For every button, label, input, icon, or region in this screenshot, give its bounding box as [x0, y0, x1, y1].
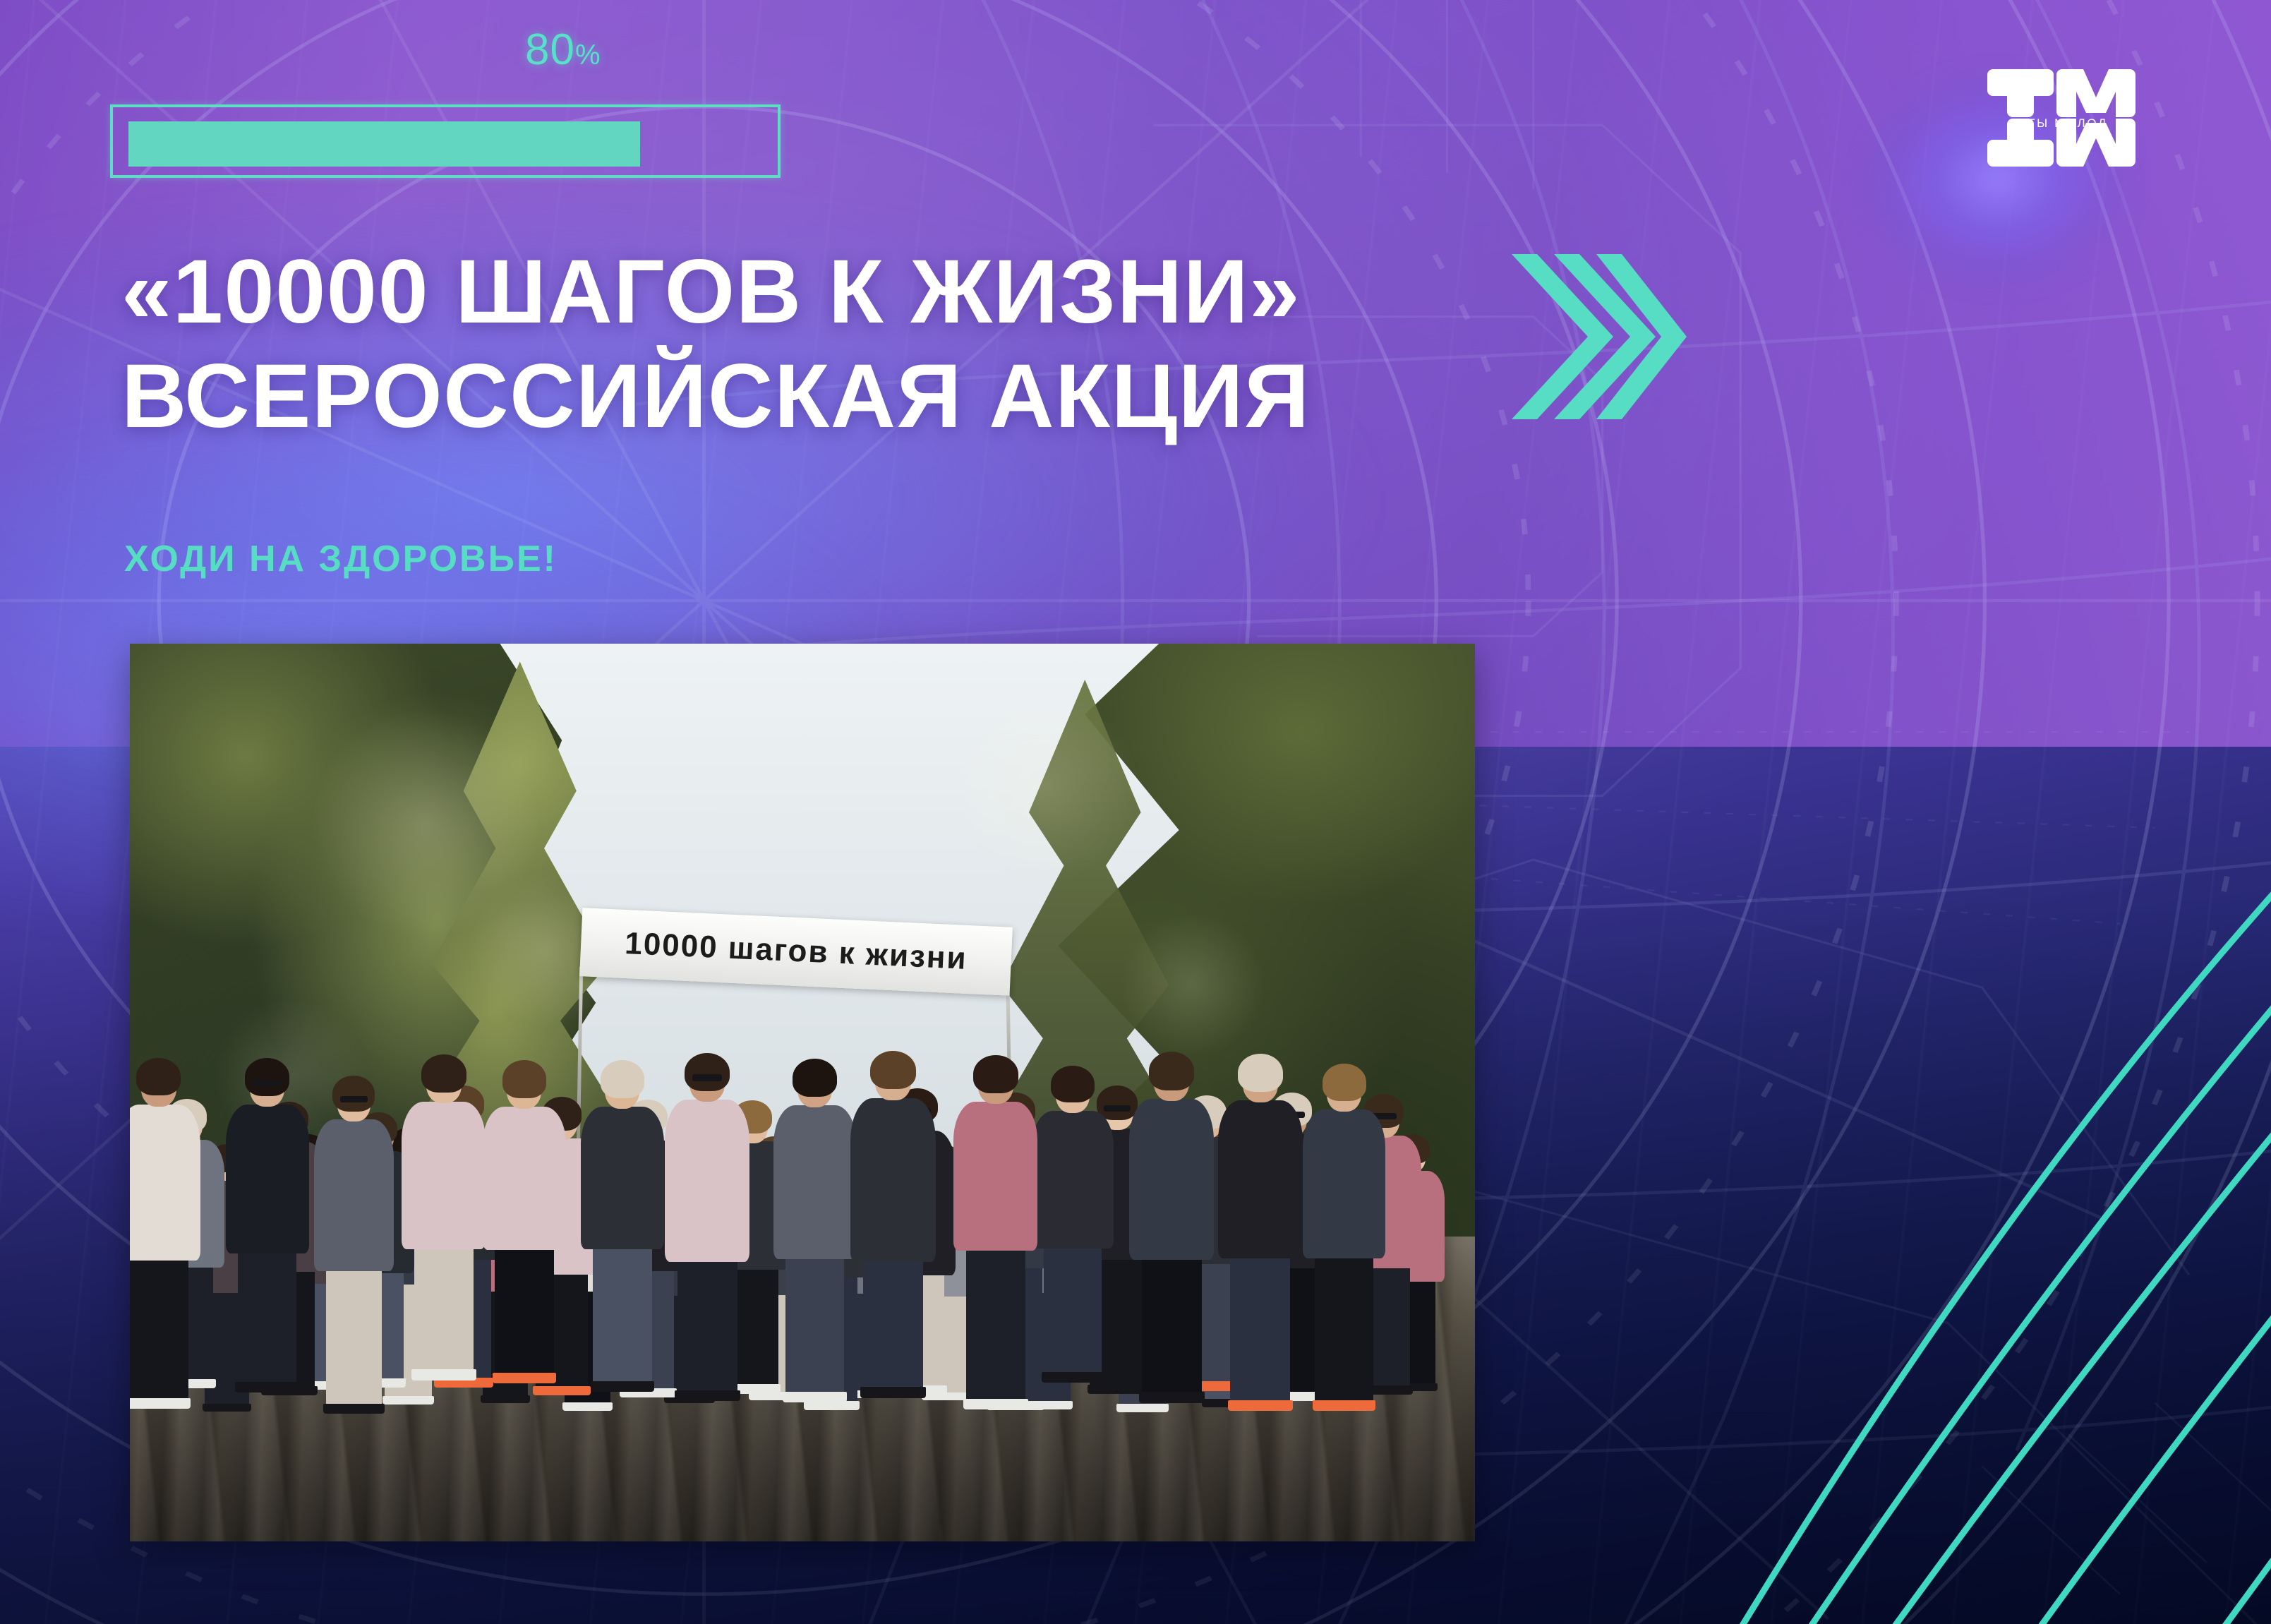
photo-person-hair	[1051, 1066, 1095, 1102]
photo-person	[250, 1066, 284, 1416]
photo-person-sunglasses	[1104, 1105, 1131, 1112]
photo-person-head	[507, 1068, 541, 1109]
photo-person-torso	[665, 1100, 749, 1262]
photo-person-shoes	[783, 1392, 847, 1402]
photo-person-torso	[1218, 1100, 1303, 1258]
photo-person	[605, 1068, 639, 1416]
photo-person	[875, 1058, 910, 1416]
photo-person-torso	[314, 1119, 393, 1271]
photo-person-head	[689, 1060, 725, 1102]
chevron-right-icon	[1507, 248, 1691, 425]
photo-person-legs	[238, 1253, 297, 1382]
photo-person	[426, 1062, 462, 1416]
photo-person-shoes	[323, 1404, 385, 1414]
progress-percent-value: 80	[525, 25, 575, 74]
photo-person-hair	[502, 1060, 547, 1097]
photo-person	[337, 1083, 371, 1416]
photo-person-hair	[601, 1060, 645, 1097]
progress-percent-unit: %	[575, 40, 601, 71]
photo-person-hair	[973, 1055, 1018, 1093]
photo-person-sunglasses	[253, 1080, 282, 1086]
photo-person-shoes	[1313, 1400, 1376, 1411]
photo-person-shoes	[860, 1387, 926, 1397]
photo-person-head	[1154, 1059, 1189, 1101]
photo-person-head	[337, 1083, 371, 1121]
photo-person-shoes	[533, 1386, 590, 1395]
photo-person-legs	[1230, 1258, 1290, 1400]
photo-person	[1243, 1061, 1278, 1415]
photo-person-hair	[136, 1058, 181, 1096]
photo-person-legs	[593, 1249, 651, 1381]
brand-logo: ТЫ МОЛОД TM ТЫ МОЛОД	[1986, 65, 2150, 171]
photo-person-legs	[414, 1249, 474, 1370]
photo-person-shoes	[411, 1369, 476, 1380]
photo-person-shoes	[1139, 1392, 1205, 1402]
photo-person-torso	[1129, 1099, 1214, 1260]
photo-person-hair	[870, 1051, 915, 1090]
photo-person-shoes	[203, 1404, 251, 1412]
photo-person	[1154, 1059, 1189, 1416]
photo-person-hair	[1149, 1052, 1194, 1090]
photo-person-torso	[483, 1107, 565, 1251]
photo-person-sunglasses	[340, 1096, 368, 1102]
photo-person-legs	[495, 1250, 553, 1373]
page-title: «10000 ШАГОВ К ЖИЗНИ» ВСЕРОССИЙСКАЯ АКЦИ…	[121, 240, 1533, 450]
photo-person-head	[605, 1068, 639, 1109]
photo-person-shoes	[1042, 1372, 1104, 1383]
event-photo: 10000 шагов к жизни	[130, 644, 1475, 1541]
photo-person-hair	[793, 1059, 837, 1096]
photo-person-legs	[785, 1259, 845, 1392]
photo-person-shoes	[130, 1398, 191, 1409]
photo-person-hair	[245, 1058, 289, 1095]
photo-person-torso	[1303, 1109, 1385, 1258]
photo-person	[507, 1068, 541, 1416]
photo-person-shoes	[1228, 1400, 1293, 1411]
photo-person-torso	[402, 1102, 486, 1249]
photo-person-head	[141, 1065, 176, 1106]
photo-person-torso	[850, 1098, 936, 1263]
photo-person-shoes	[1088, 1385, 1147, 1395]
photo-person-shoes	[591, 1381, 655, 1392]
title-line-2: ВСЕРОССИЙСКАЯ АКЦИЯ	[121, 344, 1533, 449]
photo-person-head	[978, 1063, 1013, 1105]
photo-person-head	[797, 1066, 832, 1107]
photo-person-torso	[581, 1107, 664, 1250]
progress-percent-label: 80%	[525, 28, 601, 72]
title-line-1: «10000 ШАГОВ К ЖИЗНИ»	[121, 240, 1533, 344]
photo-person-head	[1327, 1071, 1361, 1112]
photo-person-shoes	[235, 1382, 299, 1393]
photo-person-head	[875, 1058, 910, 1100]
photo-person	[797, 1066, 832, 1416]
photo-person-legs	[677, 1262, 737, 1390]
photo-person-sunglasses	[692, 1074, 722, 1081]
subtitle: ХОДИ НА ЗДОРОВЬЕ!	[124, 538, 558, 580]
photo-person-head	[1243, 1061, 1278, 1102]
photo-person-legs	[1315, 1258, 1373, 1400]
photo-person-legs	[326, 1271, 382, 1404]
photo-person	[141, 1065, 176, 1416]
progress-track	[110, 104, 781, 178]
photo-person	[1056, 1073, 1090, 1416]
photo-person-torso	[1032, 1111, 1114, 1249]
photo-person-torso	[953, 1102, 1037, 1251]
photo-person-torso	[773, 1105, 857, 1260]
photo-person-shoes	[963, 1399, 1028, 1409]
photo-person-head	[1056, 1073, 1090, 1113]
photo-person-hair	[685, 1053, 730, 1091]
photo-person-hair	[1323, 1064, 1366, 1101]
photo-person-head	[426, 1062, 462, 1104]
photo-person	[1327, 1071, 1361, 1416]
photo-person-legs	[966, 1251, 1025, 1399]
photo-person	[689, 1060, 725, 1416]
photo-person-shoes	[493, 1373, 557, 1383]
photo-person-hair	[1238, 1054, 1283, 1092]
progress-fill	[128, 121, 640, 167]
photo-person	[978, 1063, 1013, 1416]
photo-person-legs	[863, 1262, 924, 1387]
photo-person-hair	[332, 1076, 375, 1112]
photo-crowd-figures	[130, 949, 1475, 1415]
photo-person-torso	[130, 1105, 200, 1261]
photo-person-shoes	[675, 1390, 740, 1401]
photo-person-legs	[1142, 1260, 1202, 1392]
photo-person-legs	[1044, 1249, 1102, 1372]
photo-person-legs	[130, 1261, 188, 1398]
photo-person-torso	[226, 1105, 309, 1253]
photo-person-head	[250, 1066, 284, 1107]
slide-root: 80% «10000 ШАГОВ К ЖИЗНИ» ВСЕРОССИЙСКАЯ …	[0, 0, 2271, 1624]
photo-person-hair	[421, 1054, 466, 1093]
